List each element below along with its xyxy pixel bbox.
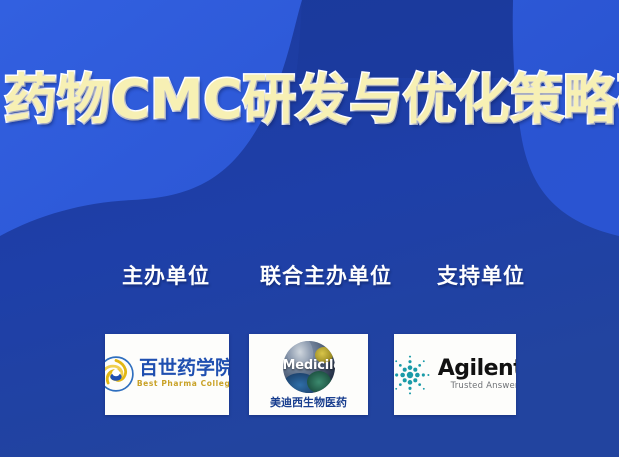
agilent-name: Agilent [438, 357, 516, 380]
agilent-starburst-icon [394, 352, 433, 398]
best-pharma-name-cn: 百世药学院 [139, 358, 229, 379]
agilent-logo: Agilent Trusted Answers [394, 352, 516, 398]
logo-card-best-pharma-college: 百世药学院 Best Pharma College [105, 334, 229, 415]
logo-card-inner: 百世药学院 Best Pharma College [105, 334, 229, 415]
page-title: 药物CMC研发与优化策略研讨会 [4, 68, 619, 132]
partner-label-co-organizer: 联合主办单位 [246, 262, 406, 290]
best-pharma-text: 百世药学院 Best Pharma College [137, 358, 229, 389]
organizer-label-text: 主办单位 [86, 262, 246, 290]
logo-card-agilent: Agilent Trusted Answers [394, 334, 516, 415]
logo-card-inner: Agilent Trusted Answers [394, 334, 516, 415]
partner-label-organizer: 主办单位 [86, 262, 246, 290]
supporter-label-text: 支持单位 [406, 262, 556, 290]
logo-card-inner: Medicilon 美迪西生物医药 [249, 334, 368, 415]
swirl-circle-icon [105, 356, 134, 392]
partner-labels-row: 主办单位 联合主办单位 支持单位 [86, 262, 536, 290]
medicilon-name-cn: 美迪西生物医药 [270, 396, 347, 409]
agilent-text: Agilent Trusted Answers [438, 357, 516, 392]
co-organizer-label-text: 联合主办单位 [246, 262, 406, 290]
poster-banner: 药物CMC研发与优化策略研讨会 主办单位 联合主办单位 支持单位 [0, 0, 619, 457]
best-pharma-logo: 百世药学院 Best Pharma College [105, 356, 229, 392]
best-pharma-name-en: Best Pharma College [137, 379, 229, 389]
medicilon-name-en: Medicilon [283, 358, 335, 373]
poster-title-container: 药物CMC研发与优化策略研讨会 [0, 68, 619, 132]
logo-card-medicilon: Medicilon 美迪西生物医药 [249, 334, 368, 415]
agilent-tagline: Trusted Answers [451, 380, 516, 392]
photo-circle-icon: Medicilon [283, 341, 335, 393]
partner-label-supporter: 支持单位 [406, 262, 556, 290]
medicilon-logo: Medicilon 美迪西生物医药 [270, 341, 347, 409]
